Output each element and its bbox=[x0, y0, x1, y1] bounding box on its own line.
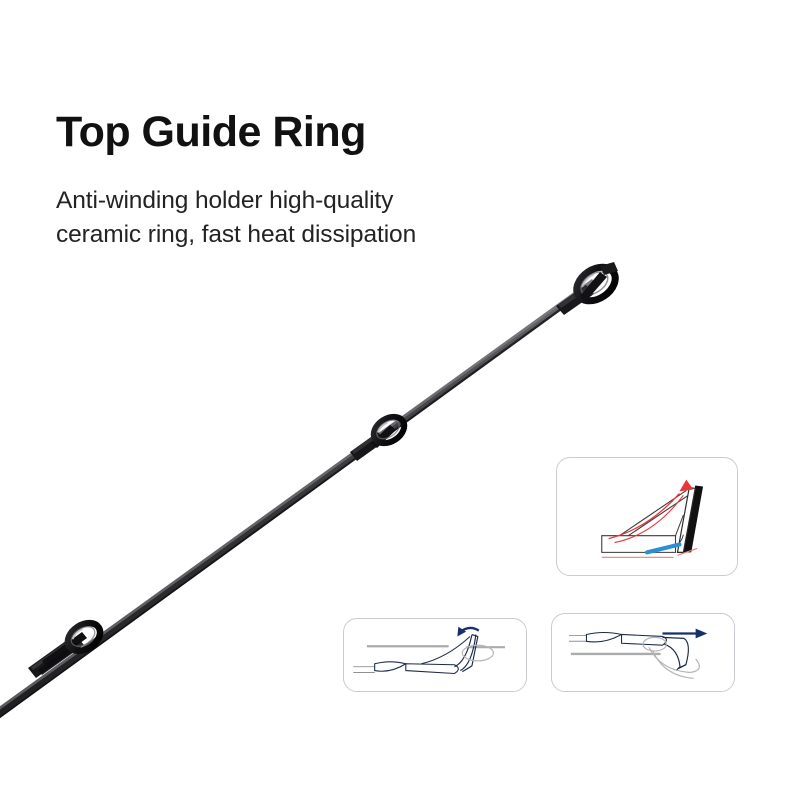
detail-box-line-lift-side-view[interactable] bbox=[343, 618, 527, 692]
third-guide-ring bbox=[28, 617, 105, 678]
page-title: Top Guide Ring bbox=[56, 108, 526, 156]
rod-blank-outline bbox=[375, 662, 459, 674]
product-feature-panel: Top Guide Ring Anti-winding holder high-… bbox=[0, 0, 800, 800]
subtitle-line-1: Anti-winding holder high-quality bbox=[56, 184, 526, 218]
detail-box-anti-winding-cutaway[interactable] bbox=[556, 457, 738, 576]
page-subtitle: Anti-winding holder high-quality ceramic… bbox=[56, 156, 526, 252]
headline-block: Top Guide Ring Anti-winding holder high-… bbox=[56, 108, 526, 252]
anti-winding-cutaway-diagram bbox=[557, 458, 737, 575]
rod-blank-outline bbox=[586, 633, 666, 646]
second-guide-ring bbox=[350, 411, 409, 461]
top-guide-ring bbox=[556, 260, 622, 315]
line-release-diagram bbox=[552, 614, 734, 691]
navy-straight-arrow bbox=[662, 629, 707, 639]
line-lift-diagram bbox=[344, 619, 526, 691]
detail-box-line-release-side-view[interactable] bbox=[551, 613, 735, 692]
guide-ring-frame bbox=[677, 486, 703, 553]
subtitle-line-2: ceramic ring, fast heat dissipation bbox=[56, 218, 526, 252]
